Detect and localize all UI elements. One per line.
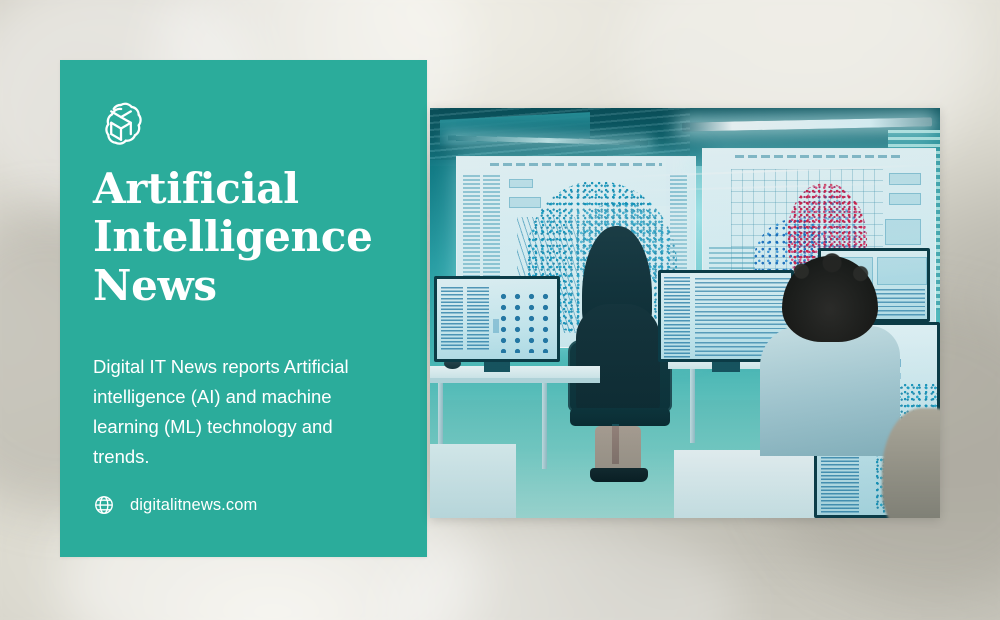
page-title: Artificial Intelligence News xyxy=(93,165,403,310)
screen-chart-box xyxy=(877,257,927,285)
row-divider xyxy=(695,306,791,308)
code-column xyxy=(664,277,690,359)
display-title-bar xyxy=(490,163,661,166)
seated-man-hair xyxy=(782,256,878,342)
panel-description: Digital IT News reports Artificial intel… xyxy=(93,352,383,472)
desk-leg xyxy=(542,383,547,469)
globe-icon xyxy=(93,494,115,516)
data-operations-center-photo xyxy=(430,108,940,518)
desk-leg xyxy=(690,369,695,443)
code-column xyxy=(467,287,489,351)
display-title-bar xyxy=(735,155,902,158)
monitor-left-screen xyxy=(437,279,557,359)
monitor-marker xyxy=(493,319,499,333)
content-panel: Artificial Intelligence News Digital IT … xyxy=(60,60,427,557)
seated-woman-shoes xyxy=(590,468,648,482)
code-column xyxy=(441,287,463,351)
data-rows xyxy=(695,278,791,304)
desk-foreground-left xyxy=(430,444,516,518)
openai-logo-icon xyxy=(93,96,149,152)
data-rows xyxy=(695,311,791,335)
openai-logo xyxy=(93,96,149,152)
website-link[interactable]: digitalitnews.com xyxy=(93,494,257,516)
node-column xyxy=(499,291,508,353)
website-url-text: digitalitnews.com xyxy=(130,496,257,515)
desk-leg xyxy=(438,383,443,453)
monitor-stand xyxy=(712,362,740,372)
node-column xyxy=(527,291,536,353)
desk-left-edge xyxy=(430,378,600,383)
seated-man-body xyxy=(760,326,900,456)
seated-woman-legs xyxy=(595,426,641,474)
display-label-box xyxy=(509,179,533,188)
display-label-box xyxy=(509,197,541,208)
node-column xyxy=(541,291,550,353)
display-chart-box xyxy=(885,219,921,245)
monitor-stand xyxy=(484,362,510,372)
seated-woman-body xyxy=(576,304,660,414)
display-label-box xyxy=(889,193,921,205)
monitor-left xyxy=(434,276,560,362)
office-chair-seat xyxy=(570,408,670,426)
node-column xyxy=(513,291,522,353)
